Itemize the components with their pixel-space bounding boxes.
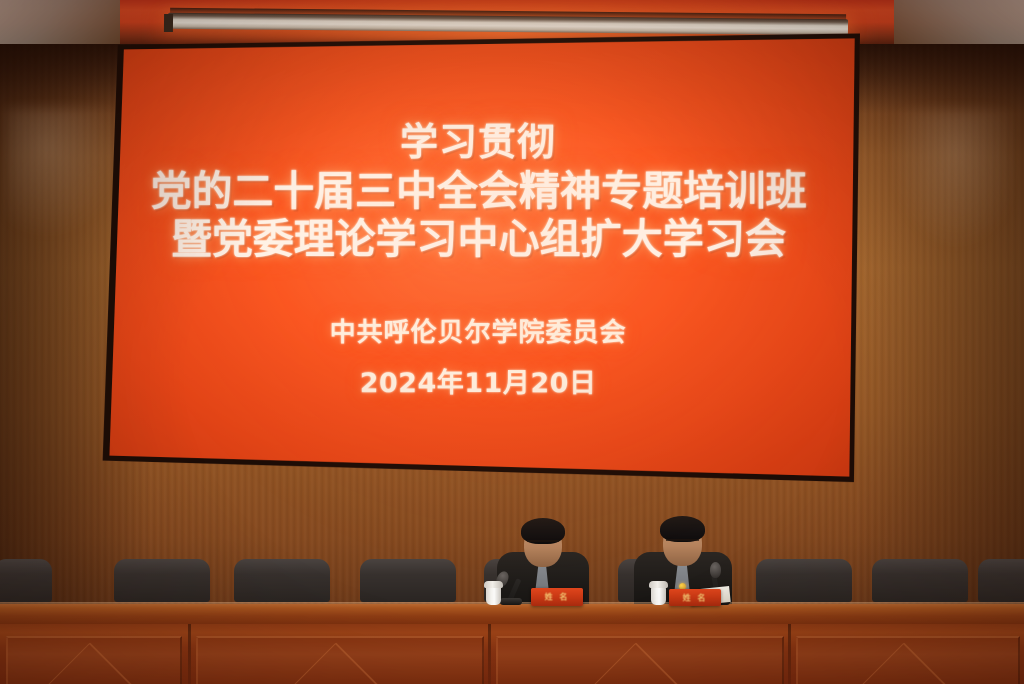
- table-panel: [796, 636, 1020, 684]
- conference-room-photo: 学习贯彻 党的二十届三中全会精神专题培训班 暨党委理论学习中心组扩大学习会 中共…: [0, 0, 1024, 684]
- table-panel-diamond: [859, 642, 960, 684]
- speaker-left-glasses: [527, 540, 559, 549]
- conference-chair: [756, 556, 852, 602]
- water-cup-lid-right: [649, 581, 668, 588]
- microphone-head-right: [710, 562, 721, 578]
- nameplate-right-text: 姓 名: [669, 592, 721, 603]
- table-seam: [788, 624, 791, 684]
- table-panel-diamond: [45, 642, 146, 684]
- screen-title-line-3: 暨党委理论学习中心组扩大学习会: [171, 217, 786, 261]
- table-seam: [188, 624, 191, 684]
- nameplate-right: 姓 名: [669, 589, 721, 606]
- water-cup-left: [486, 585, 501, 605]
- screen-date: 2024年11月20日: [360, 360, 597, 399]
- chair-back: [234, 559, 330, 602]
- wall-right-highlight: [888, 110, 1012, 250]
- conference-chair: [360, 556, 456, 602]
- screen-content: 学习贯彻 党的二十届三中全会精神专题培训班 暨党委理论学习中心组扩大学习会 中共…: [98, 33, 860, 486]
- conference-chair: [0, 556, 52, 602]
- screen-organization: 中共呼伦贝尔学院委员会: [330, 312, 627, 349]
- ceiling-right-corner: [894, 0, 1024, 48]
- speaker-right-glasses: [666, 539, 699, 548]
- head-table-surface: [0, 604, 1024, 626]
- table-panel: [6, 636, 182, 684]
- nameplate-left-text: 姓 名: [531, 592, 583, 603]
- table-panel-diamond: [591, 642, 692, 684]
- table-panel-diamond: [291, 642, 392, 684]
- chair-back: [756, 559, 852, 602]
- table-panel: [196, 636, 484, 684]
- chair-back: [0, 559, 52, 602]
- nameplate-left: 姓 名: [531, 588, 583, 606]
- chair-back: [978, 559, 1024, 602]
- head-table-front: [0, 624, 1024, 684]
- led-display-screen: 学习贯彻 党的二十届三中全会精神专题培训班 暨党委理论学习中心组扩大学习会 中共…: [98, 33, 860, 486]
- chair-back: [872, 559, 968, 602]
- chair-back: [360, 559, 456, 602]
- chair-back: [114, 559, 210, 602]
- conference-chair: [978, 556, 1024, 602]
- microphone-base-left: [500, 598, 522, 605]
- conference-chair: [114, 556, 210, 602]
- light-fixture-left-cap: [164, 14, 173, 32]
- conference-chair: [872, 556, 968, 602]
- screen-org-block: 中共呼伦贝尔学院委员会 2024年11月20日: [330, 312, 627, 400]
- water-cup-right: [651, 586, 666, 605]
- water-cup-lid-left: [484, 581, 503, 588]
- screen-title-line-1: 学习贯彻: [400, 122, 556, 163]
- screen-title-line-2: 党的二十届三中全会精神专题培训班: [151, 169, 807, 214]
- table-panel: [496, 636, 784, 684]
- conference-chair: [234, 556, 330, 602]
- table-seam: [488, 624, 491, 684]
